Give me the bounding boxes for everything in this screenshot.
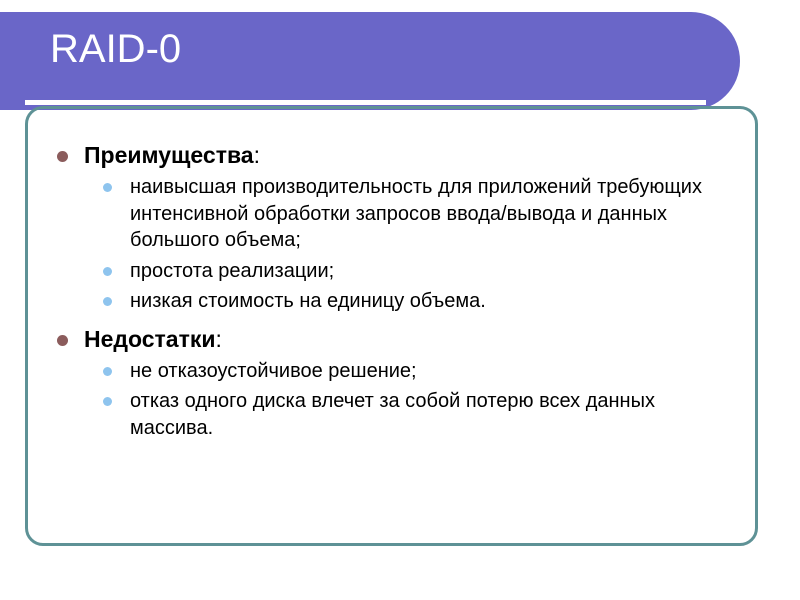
bullet-level2-item: не отказоустойчивое решение; bbox=[48, 358, 748, 385]
page-title: RAID-0 bbox=[50, 26, 181, 72]
bullet-level2-text: наивысшая производительность для приложе… bbox=[130, 174, 740, 254]
sub-bullet-dot-icon bbox=[103, 397, 112, 406]
title-divider-rule bbox=[25, 100, 706, 105]
bullet-level1-suffix: : bbox=[216, 326, 222, 352]
bullet-level2-item: низкая стоимость на единицу объема. bbox=[48, 288, 748, 315]
bullet-level2-text: отказ одного диска влечет за собой потер… bbox=[130, 388, 740, 441]
slide-canvas: RAID-0 Преимущества: наивысшая производи… bbox=[0, 0, 800, 600]
bullet-level2-item: наивысшая производительность для приложе… bbox=[48, 174, 748, 254]
content-bullet-list: Преимущества: наивысшая производительнос… bbox=[48, 140, 748, 445]
sub-bullet-dot-icon bbox=[103, 367, 112, 376]
sub-bullet-dot-icon bbox=[103, 183, 112, 192]
bullet-level1-label: Недостатки bbox=[84, 326, 216, 352]
bullet-level1-advantages: Преимущества: bbox=[48, 140, 748, 171]
bullet-dot-icon bbox=[57, 335, 68, 346]
bullet-level2-item: отказ одного диска влечет за собой потер… bbox=[48, 388, 748, 441]
bullet-dot-icon bbox=[57, 151, 68, 162]
sub-bullet-dot-icon bbox=[103, 267, 112, 276]
bullet-level2-text: низкая стоимость на единицу объема. bbox=[130, 288, 740, 315]
bullet-level1-disadvantages: Недостатки: bbox=[48, 324, 748, 355]
bullet-level2-item: простота реализации; bbox=[48, 258, 748, 285]
sub-bullet-dot-icon bbox=[103, 297, 112, 306]
bullet-level1-label: Преимущества bbox=[84, 142, 254, 168]
bullet-level2-text: простота реализации; bbox=[130, 258, 740, 285]
bullet-level1-suffix: : bbox=[254, 142, 260, 168]
bullet-level2-text: не отказоустойчивое решение; bbox=[130, 358, 740, 385]
